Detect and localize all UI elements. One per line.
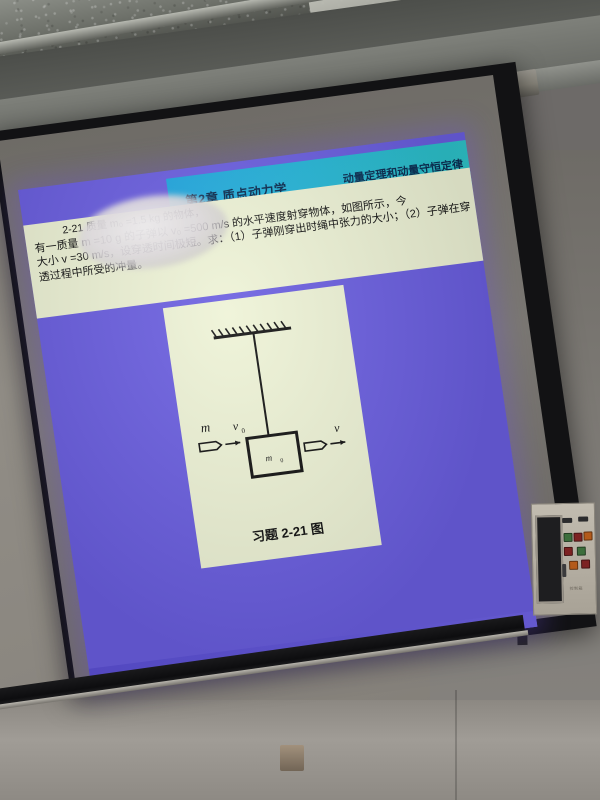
panel-button-1[interactable] [563,533,572,542]
panel-slot-1 [562,518,572,523]
panel-button-2[interactable] [573,533,582,542]
svg-text:v: v [333,421,341,436]
panel-label: 控制箱 [570,586,583,592]
svg-text:m: m [265,452,273,463]
screen-bottom-weight [280,745,304,771]
projected-slide: 第2章 质点动力学 动量定理和动量守恒定律 2-21 质量 m₀ =1.5 kg… [18,132,537,685]
physics-figure: m 0 m v 0 v [163,285,376,531]
lecture-hall-photo: 第2章 质点动力学 动量定理和动量守恒定律 2-21 质量 m₀ =1.5 kg… [0,0,600,800]
svg-text:m: m [200,419,212,435]
panel-button-4[interactable] [564,547,573,556]
svg-text:0: 0 [280,458,284,464]
panel-button-7[interactable] [581,559,590,568]
panel-button-3[interactable] [583,531,592,540]
panel-slot-2 [578,516,588,521]
figure-card: m 0 m v 0 v 习题 2-21 图 [163,285,382,569]
wall-seam [455,690,457,800]
panel-button-5[interactable] [577,547,586,556]
panel-door-window [535,515,564,604]
panel-button-6[interactable] [569,561,578,570]
electrical-control-panel[interactable]: 控制箱 [531,502,597,615]
svg-text:v: v [232,419,240,434]
svg-text:0: 0 [241,427,246,435]
panel-door-handle[interactable] [562,564,566,577]
